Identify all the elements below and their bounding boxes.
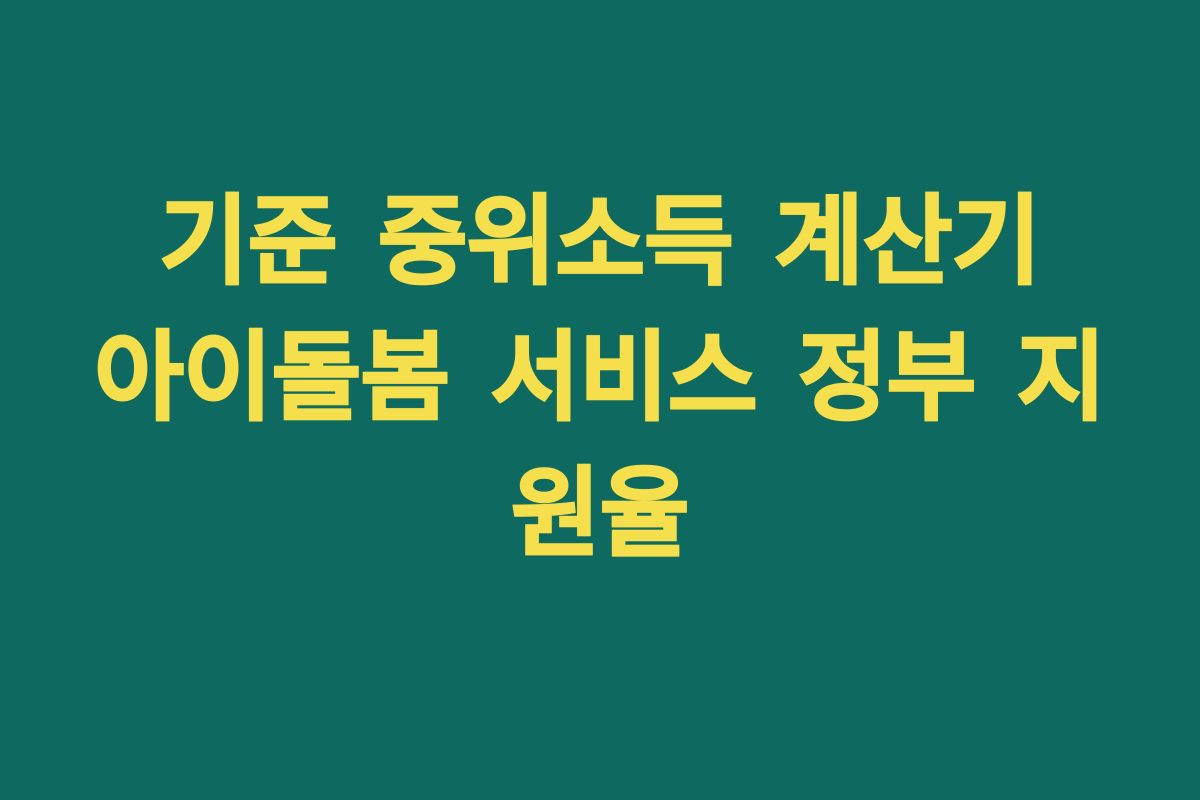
headline-block: 기준 중위소득 계산기 아이돌봄 서비스 정부 지 원율	[70, 174, 1130, 582]
page-title: 기준 중위소득 계산기 아이돌봄 서비스 정부 지 원율	[70, 174, 1130, 582]
thumbnail-canvas: 기준 중위소득 계산기 아이돌봄 서비스 정부 지 원율	[0, 0, 1200, 800]
